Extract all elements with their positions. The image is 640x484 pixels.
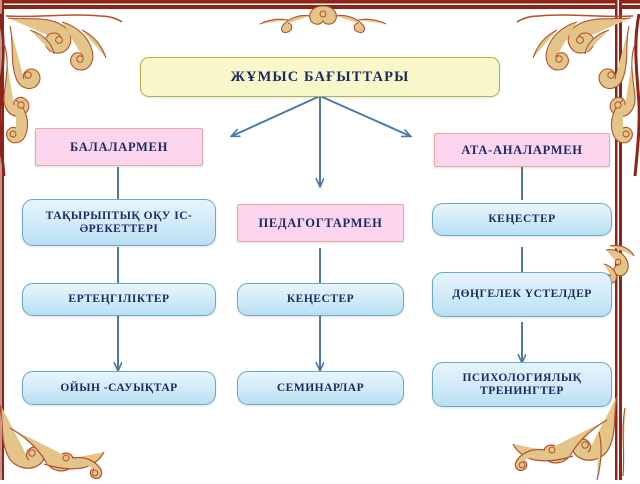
- title-box: ЖҰМЫС БАҒЫТТАРЫ: [140, 57, 500, 97]
- node-children-1: ТАҚЫРЫПТЫҚ ОҚУ ІС-ӘРЕКЕТТЕРІ: [22, 199, 216, 246]
- node-children-2-label: ЕРТЕҢГІЛІКТЕР: [62, 293, 175, 306]
- node-teachers-2: СЕМИНАРЛАР: [237, 371, 404, 405]
- column-header-parents-label: АТА-АНАЛАРМЕН: [455, 143, 588, 157]
- node-children-1-label: ТАҚЫРЫПТЫҚ ОҚУ ІС-ӘРЕКЕТТЕРІ: [23, 210, 215, 236]
- column-header-teachers-label: ПЕДАГОГТАРМЕН: [252, 216, 388, 230]
- node-parents-1-label: КЕҢЕСТЕР: [482, 213, 561, 226]
- column-header-teachers: ПЕДАГОГТАРМЕН: [237, 204, 404, 242]
- node-children-3-label: ОЙЫН -САУЫҚТАР: [54, 382, 183, 395]
- node-teachers-1-label: КЕҢЕСТЕР: [281, 293, 360, 306]
- column-header-children-label: БАЛАЛАРМЕН: [64, 140, 174, 154]
- column-header-parents: АТА-АНАЛАРМЕН: [434, 133, 610, 167]
- node-parents-2: ДӨҢГЕЛЕК ҮСТЕЛДЕР: [432, 272, 612, 317]
- slide-canvas: ЖҰМЫС БАҒЫТТАРЫ БАЛАЛАРМЕН ТАҚЫРЫПТЫҚ ОҚ…: [0, 0, 640, 480]
- node-children-2: ЕРТЕҢГІЛІКТЕР: [22, 283, 216, 316]
- node-teachers-2-label: СЕМИНАРЛАР: [271, 382, 370, 395]
- node-parents-3: ПСИХОЛОГИЯЛЫҚ ТРЕНИНГТЕР: [432, 362, 612, 407]
- title-label: ЖҰМЫС БАҒЫТТАРЫ: [225, 69, 416, 85]
- node-parents-3-label: ПСИХОЛОГИЯЛЫҚ ТРЕНИНГТЕР: [433, 372, 611, 398]
- node-parents-2-label: ДӨҢГЕЛЕК ҮСТЕЛДЕР: [446, 288, 598, 301]
- node-parents-1: КЕҢЕСТЕР: [432, 203, 612, 236]
- column-header-children: БАЛАЛАРМЕН: [35, 128, 203, 166]
- node-teachers-1: КЕҢЕСТЕР: [237, 283, 404, 316]
- node-children-3: ОЙЫН -САУЫҚТАР: [22, 371, 216, 405]
